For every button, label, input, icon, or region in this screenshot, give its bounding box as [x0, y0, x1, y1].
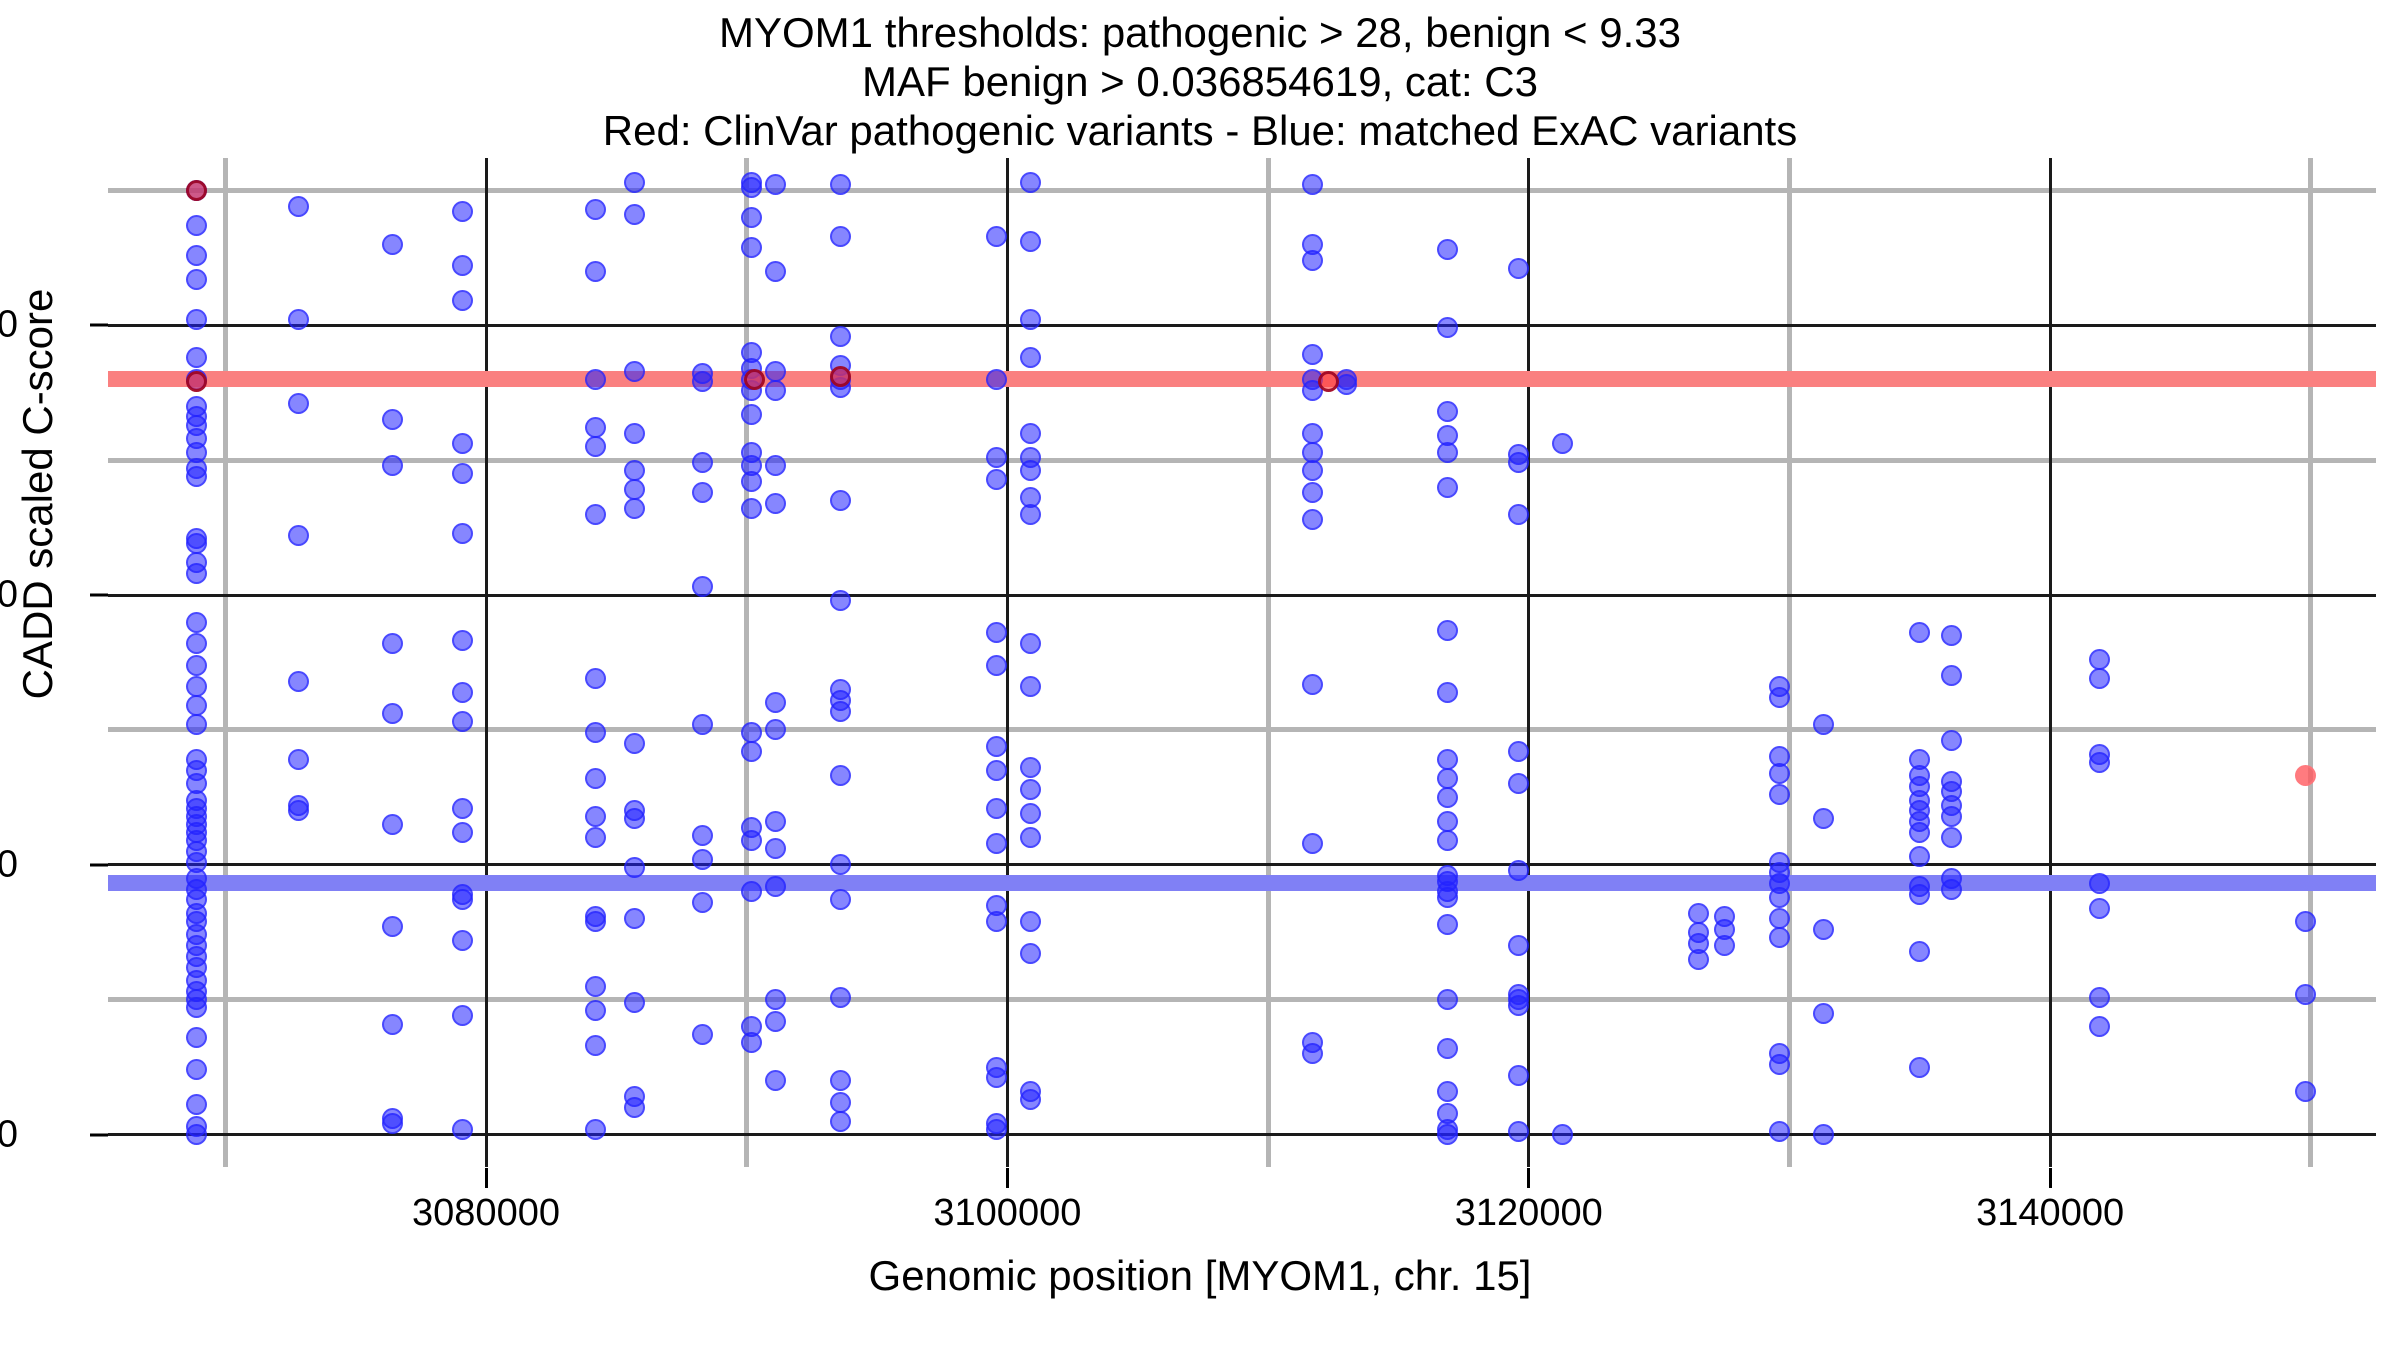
data-point-benign	[186, 1094, 207, 1115]
data-point-benign	[186, 309, 207, 330]
data-point-benign	[585, 504, 606, 525]
data-point-benign	[830, 889, 851, 910]
data-point-benign	[288, 800, 309, 821]
data-point-benign	[585, 261, 606, 282]
data-point-benign	[1508, 504, 1529, 525]
x-tick-label: 3080000	[412, 1192, 560, 1235]
data-point-benign	[382, 633, 403, 654]
gridline-y-major	[108, 324, 2376, 327]
data-point-benign	[382, 409, 403, 430]
data-point-benign	[1020, 231, 1041, 252]
data-point-benign	[2089, 987, 2110, 1008]
chart-title: MYOM1 thresholds: pathogenic > 28, benig…	[0, 8, 2400, 155]
data-point-benign	[692, 482, 713, 503]
data-point-benign	[624, 1097, 645, 1118]
data-point-benign	[382, 1014, 403, 1035]
data-point-benign	[1909, 884, 1930, 905]
data-point-benign	[624, 460, 645, 481]
data-point-benign	[986, 833, 1007, 854]
data-point-benign	[986, 622, 1007, 643]
data-point-benign	[986, 798, 1007, 819]
data-point-benign	[1769, 927, 1790, 948]
data-point-benign	[2089, 649, 2110, 670]
data-point-benign	[830, 1092, 851, 1113]
data-point-benign	[186, 563, 207, 584]
data-point-benign	[1437, 1081, 1458, 1102]
data-point-benign	[1437, 989, 1458, 1010]
data-point-benign	[2089, 1016, 2110, 1037]
data-point-benign	[1437, 830, 1458, 851]
data-point-benign	[986, 911, 1007, 932]
data-point-benign	[1508, 1065, 1529, 1086]
x-tick-mark	[2049, 1168, 2052, 1188]
data-point-benign	[1552, 1124, 1573, 1145]
data-point-benign	[1020, 1089, 1041, 1110]
data-point-benign	[986, 447, 1007, 468]
data-point-benign	[186, 997, 207, 1018]
pathogenic-threshold-band	[108, 371, 2376, 387]
y-tick-mark	[90, 594, 108, 597]
data-point-benign	[1437, 787, 1458, 808]
data-point-benign	[186, 612, 207, 633]
data-point-benign	[1813, 1124, 1834, 1145]
data-point-benign	[288, 393, 309, 414]
data-point-benign	[1020, 309, 1041, 330]
data-point-benign	[624, 808, 645, 829]
data-point-benign	[1437, 914, 1458, 935]
data-point-benign	[830, 701, 851, 722]
data-point-benign	[741, 207, 762, 228]
data-point-benign	[741, 498, 762, 519]
data-point-benign	[186, 466, 207, 487]
data-point-benign	[1437, 442, 1458, 463]
data-point-benign	[830, 1111, 851, 1132]
data-point-benign	[692, 452, 713, 473]
data-point-benign	[186, 1124, 207, 1145]
data-point-benign	[186, 676, 207, 697]
data-point-benign	[1909, 622, 1930, 643]
gridline-y-major	[108, 1133, 2376, 1136]
data-point-benign	[585, 369, 606, 390]
y-tick-mark	[90, 1133, 108, 1136]
gridline-x-minor	[223, 158, 228, 1167]
data-point-benign	[1769, 1054, 1790, 1075]
data-point-benign	[1437, 401, 1458, 422]
data-point-benign	[765, 361, 786, 382]
data-point-benign	[1437, 477, 1458, 498]
gridline-x-major	[1527, 158, 1530, 1167]
data-point-benign	[765, 811, 786, 832]
data-point-benign	[830, 987, 851, 1008]
data-point-benign	[830, 1070, 851, 1091]
data-point-benign	[1437, 768, 1458, 789]
data-point-benign	[741, 404, 762, 425]
data-point-benign	[2295, 1081, 2316, 1102]
gridline-x-major	[2049, 158, 2052, 1167]
data-point-benign	[1508, 1121, 1529, 1142]
data-point-benign	[585, 768, 606, 789]
gridline-x-major	[485, 158, 488, 1167]
data-point-benign	[1302, 344, 1323, 365]
gridline-x-minor	[1787, 158, 1792, 1167]
data-point-benign	[452, 822, 473, 843]
data-point-benign	[1302, 1043, 1323, 1064]
data-point-benign	[1813, 808, 1834, 829]
data-point-benign	[1302, 833, 1323, 854]
data-point-benign	[624, 479, 645, 500]
data-point-benign	[1508, 258, 1529, 279]
gridline-y-minor	[108, 997, 2376, 1002]
data-point-benign	[585, 1000, 606, 1021]
data-point-benign	[585, 976, 606, 997]
data-point-benign	[1020, 803, 1041, 824]
data-point-benign	[624, 423, 645, 444]
data-point-benign	[986, 760, 1007, 781]
data-point-benign	[1941, 665, 1962, 686]
data-point-benign	[765, 876, 786, 897]
data-point-benign	[452, 682, 473, 703]
x-tick-mark	[485, 1168, 488, 1188]
data-point-benign	[1813, 919, 1834, 940]
gridline-y-major	[108, 594, 2376, 597]
data-point-benign	[452, 523, 473, 544]
data-point-benign	[986, 1067, 1007, 1088]
gridline-x-minor	[1266, 158, 1271, 1167]
data-point-benign	[692, 1024, 713, 1045]
data-point-benign	[452, 889, 473, 910]
data-point-benign	[1020, 911, 1041, 932]
data-point-benign	[1302, 674, 1323, 695]
data-point-benign	[2089, 752, 2110, 773]
x-tick-mark	[1527, 1168, 1530, 1188]
data-point-benign	[1437, 749, 1458, 770]
data-point-benign	[1437, 1038, 1458, 1059]
data-point-benign	[452, 1005, 473, 1026]
data-point-benign	[986, 1119, 1007, 1140]
data-point-benign	[288, 525, 309, 546]
data-point-benign	[1437, 887, 1458, 908]
chart-root: MYOM1 thresholds: pathogenic > 28, benig…	[0, 0, 2400, 1350]
data-point-benign	[986, 655, 1007, 676]
data-point-benign	[986, 736, 1007, 757]
data-point-benign	[382, 703, 403, 724]
data-point-benign	[765, 455, 786, 476]
data-point-benign	[186, 347, 207, 368]
data-point-pathogenic	[186, 180, 207, 201]
data-point-benign	[1813, 714, 1834, 735]
data-point-benign	[624, 361, 645, 382]
data-point-pathogenic	[1318, 371, 1339, 392]
y-axis-label: CADD scaled C-score	[14, 84, 62, 904]
data-point-benign	[585, 668, 606, 689]
data-point-benign	[1437, 811, 1458, 832]
data-point-benign	[765, 380, 786, 401]
data-point-benign	[1508, 452, 1529, 473]
data-point-benign	[624, 992, 645, 1013]
data-point-benign	[382, 814, 403, 835]
data-point-benign	[741, 830, 762, 851]
data-point-benign	[692, 371, 713, 392]
data-point-benign	[1437, 239, 1458, 260]
data-point-benign	[2089, 873, 2110, 894]
data-point-benign	[186, 633, 207, 654]
data-point-benign	[1020, 347, 1041, 368]
data-point-benign	[1020, 460, 1041, 481]
data-point-benign	[1020, 172, 1041, 193]
data-point-pathogenic	[186, 371, 207, 392]
data-point-benign	[765, 1070, 786, 1091]
data-point-benign	[1336, 374, 1357, 395]
data-point-benign	[186, 533, 207, 554]
data-point-benign	[830, 326, 851, 347]
data-point-benign	[1508, 935, 1529, 956]
data-point-benign	[986, 469, 1007, 490]
data-point-benign	[288, 196, 309, 217]
data-point-benign	[2295, 984, 2316, 1005]
data-point-benign	[1302, 423, 1323, 444]
data-point-benign	[1508, 860, 1529, 881]
data-point-benign	[830, 590, 851, 611]
data-point-benign	[186, 695, 207, 716]
data-point-benign	[585, 417, 606, 438]
plot-clip	[108, 158, 2376, 1167]
data-point-benign	[765, 261, 786, 282]
data-point-benign	[186, 245, 207, 266]
data-point-benign	[741, 722, 762, 743]
data-point-benign	[585, 1035, 606, 1056]
data-point-benign	[585, 199, 606, 220]
gridline-y-minor	[108, 188, 2376, 193]
data-point-benign	[765, 493, 786, 514]
data-point-benign	[830, 490, 851, 511]
data-point-benign	[1909, 822, 1930, 843]
y-tick-label: 0	[0, 1113, 18, 1156]
data-point-benign	[1769, 687, 1790, 708]
data-point-benign	[452, 798, 473, 819]
data-point-benign	[382, 234, 403, 255]
data-point-benign	[452, 290, 473, 311]
data-point-benign	[741, 471, 762, 492]
data-point-benign	[1508, 773, 1529, 794]
chart-title-line-3: Red: ClinVar pathogenic variants - Blue:…	[0, 106, 2400, 155]
data-point-benign	[765, 989, 786, 1010]
data-point-benign	[2089, 898, 2110, 919]
x-tick-label: 3120000	[1455, 1192, 1603, 1235]
data-point-benign	[452, 1119, 473, 1140]
data-point-benign	[186, 655, 207, 676]
data-point-benign	[585, 911, 606, 932]
gridline-y-minor	[108, 458, 2376, 463]
y-tick-mark	[90, 324, 108, 327]
data-point-benign	[1769, 763, 1790, 784]
data-point-benign	[1020, 827, 1041, 848]
data-point-benign	[1714, 935, 1735, 956]
data-point-benign	[1941, 625, 1962, 646]
chart-title-line-2: MAF benign > 0.036854619, cat: C3	[0, 57, 2400, 106]
data-point-benign	[382, 1113, 403, 1134]
data-point-benign	[624, 172, 645, 193]
data-point-benign	[1909, 941, 1930, 962]
data-point-benign	[1302, 250, 1323, 271]
data-point-benign	[765, 838, 786, 859]
data-point-pathogenic	[830, 366, 851, 387]
benign-threshold-band	[108, 875, 2376, 891]
data-point-benign	[1020, 423, 1041, 444]
data-point-benign	[1302, 442, 1323, 463]
data-point-benign	[2089, 668, 2110, 689]
data-point-benign	[1020, 504, 1041, 525]
data-point-benign	[382, 455, 403, 476]
data-point-benign	[741, 237, 762, 258]
data-point-benign	[765, 719, 786, 740]
data-point-benign	[186, 1027, 207, 1048]
data-point-benign	[585, 806, 606, 827]
plot-area	[108, 158, 2376, 1167]
data-point-benign	[1020, 633, 1041, 654]
data-point-benign	[1813, 1003, 1834, 1024]
data-point-benign	[741, 741, 762, 762]
data-point-benign	[830, 854, 851, 875]
data-point-benign	[692, 714, 713, 735]
data-point-benign	[585, 722, 606, 743]
data-point-benign	[452, 630, 473, 651]
data-point-benign	[1688, 903, 1709, 924]
data-point-benign	[1941, 827, 1962, 848]
data-point-benign	[452, 930, 473, 951]
data-point-benign	[1302, 460, 1323, 481]
data-point-pathogenic	[744, 369, 765, 390]
data-point-benign	[452, 433, 473, 454]
data-point-benign	[830, 765, 851, 786]
data-point-benign	[692, 849, 713, 870]
data-point-benign	[1020, 779, 1041, 800]
data-point-benign	[624, 857, 645, 878]
data-point-benign	[1020, 757, 1041, 778]
data-point-benign	[1437, 620, 1458, 641]
data-point-benign	[1437, 682, 1458, 703]
data-point-benign	[624, 908, 645, 929]
x-tick-label: 3140000	[1976, 1192, 2124, 1235]
data-point-benign	[1020, 943, 1041, 964]
data-point-benign	[830, 226, 851, 247]
x-tick-label: 3100000	[933, 1192, 1081, 1235]
gridline-y-minor	[108, 727, 2376, 732]
data-point-benign	[741, 1032, 762, 1053]
data-point-benign	[452, 463, 473, 484]
data-point-benign	[1769, 1121, 1790, 1142]
data-point-benign	[1769, 908, 1790, 929]
data-point-benign	[624, 204, 645, 225]
data-point-benign	[741, 881, 762, 902]
data-point-benign	[986, 226, 1007, 247]
data-point-benign	[288, 309, 309, 330]
data-point-benign	[624, 498, 645, 519]
x-axis-label: Genomic position [MYOM1, chr. 15]	[0, 1252, 2400, 1300]
data-point-benign	[382, 916, 403, 937]
data-point-benign	[692, 825, 713, 846]
data-point-benign	[1909, 1057, 1930, 1078]
data-point-benign	[452, 255, 473, 276]
data-point-benign	[1508, 741, 1529, 762]
data-point-benign	[1769, 784, 1790, 805]
data-point-benign	[1437, 1124, 1458, 1145]
data-point-benign	[585, 1119, 606, 1140]
gridline-x-minor	[2308, 158, 2313, 1167]
data-point-benign	[765, 1011, 786, 1032]
data-point-benign	[1688, 949, 1709, 970]
data-point-benign	[1020, 676, 1041, 697]
gridline-y-major	[108, 863, 2376, 866]
data-point-benign	[1437, 317, 1458, 338]
data-point-benign	[1769, 887, 1790, 908]
data-point-benign	[1941, 806, 1962, 827]
data-point-benign	[624, 733, 645, 754]
data-point-benign	[186, 215, 207, 236]
data-point-benign	[741, 177, 762, 198]
chart-title-line-1: MYOM1 thresholds: pathogenic > 28, benig…	[0, 8, 2400, 57]
data-point-benign	[1552, 433, 1573, 454]
data-point-benign	[585, 436, 606, 457]
data-point-benign	[186, 269, 207, 290]
data-point-benign	[765, 692, 786, 713]
data-point-benign	[186, 1059, 207, 1080]
y-tick-mark	[90, 863, 108, 866]
data-point-benign	[1302, 482, 1323, 503]
data-point-benign	[452, 201, 473, 222]
data-point-benign	[1941, 730, 1962, 751]
data-point-benign	[1302, 509, 1323, 530]
data-point-benign	[288, 671, 309, 692]
data-point-benign	[585, 827, 606, 848]
x-tick-mark	[1006, 1168, 1009, 1188]
data-point-benign	[288, 749, 309, 770]
data-point-benign	[2295, 911, 2316, 932]
data-point-benign	[692, 892, 713, 913]
data-point-benign	[1508, 995, 1529, 1016]
data-point-benign	[1941, 879, 1962, 900]
